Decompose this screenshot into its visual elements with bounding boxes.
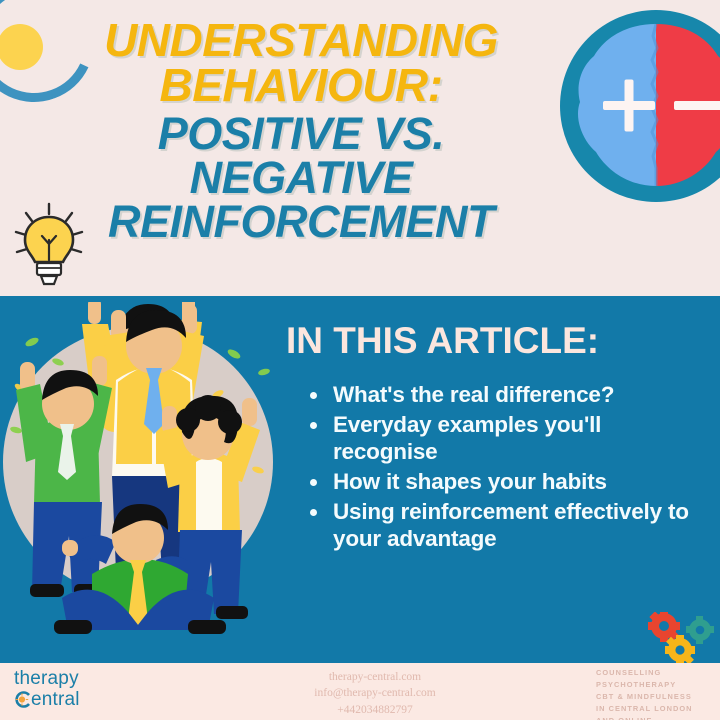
- title-line-4: NEGATIVE: [76, 156, 526, 200]
- list-item: Everyday examples you'll recognise: [306, 412, 706, 465]
- article-bullet-list: What's the real difference? Everyday exa…: [306, 382, 706, 556]
- credential-line: AND ONLINE: [596, 715, 720, 720]
- logo-line-2: entral: [14, 690, 144, 711]
- title-line-1: UNDERSTANDING: [76, 18, 526, 63]
- brain-split-plus-minus-icon: [556, 6, 720, 206]
- celebrating-people-illustration: [0, 302, 286, 637]
- header-band: UNDERSTANDING BEHAVIOUR: POSITIVE VS. NE…: [0, 0, 720, 296]
- poster-title: UNDERSTANDING BEHAVIOUR: POSITIVE VS. NE…: [76, 18, 526, 244]
- list-item: What's the real difference?: [306, 382, 706, 408]
- credential-line: COUNSELLING: [596, 667, 720, 679]
- website-link[interactable]: therapy-central.com: [240, 669, 510, 685]
- credential-line: CBT & MINDFULNESS: [596, 691, 720, 703]
- infographic-poster: UNDERSTANDING BEHAVIOUR: POSITIVE VS. NE…: [0, 0, 720, 720]
- therapy-central-logo[interactable]: therapy entral: [14, 669, 144, 710]
- footer-band: therapy entral therapy-central.com: [0, 663, 720, 720]
- main-band: IN THIS ARTICLE: What's the real differe…: [0, 296, 720, 663]
- title-line-2: BEHAVIOUR:: [76, 63, 526, 108]
- credential-line: IN CENTRAL LONDON: [596, 703, 720, 715]
- title-line-5: REINFORCEMENT: [76, 200, 526, 244]
- gears-icon: [645, 612, 720, 664]
- list-item: Using reinforcement effectively to your …: [306, 499, 706, 552]
- credentials-block: COUNSELLING PSYCHOTHERAPY CBT & MINDFULN…: [596, 667, 720, 720]
- logo-line-2-text: entral: [31, 690, 80, 711]
- contact-block: therapy-central.com info@therapy-central…: [240, 669, 510, 718]
- phone-number[interactable]: +442034882797: [240, 702, 510, 718]
- email-link[interactable]: info@therapy-central.com: [240, 685, 510, 701]
- list-item: How it shapes your habits: [306, 469, 706, 495]
- logo-sun-c-icon: [14, 690, 31, 709]
- credential-line: PSYCHOTHERAPY: [596, 679, 720, 691]
- title-line-3: POSITIVE VS.: [76, 112, 526, 156]
- logo-line-1: therapy: [14, 669, 144, 690]
- article-heading: IN THIS ARTICLE:: [286, 320, 599, 362]
